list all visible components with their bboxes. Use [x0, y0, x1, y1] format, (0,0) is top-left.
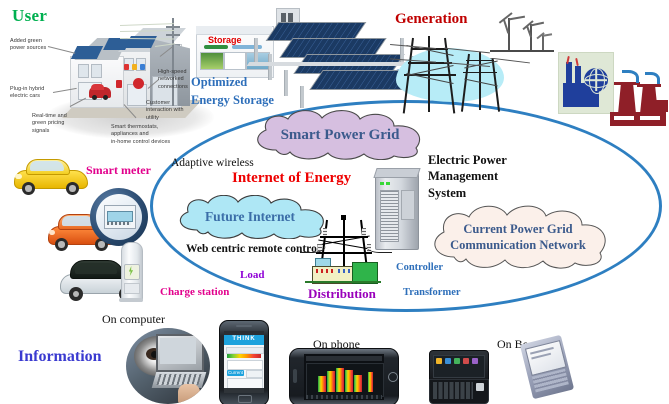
- callout-high-speed-networked-connections: High-speed networked connections: [158, 69, 188, 91]
- device-label-on-computer: On computer: [102, 312, 165, 327]
- device-slider-keyboard: [429, 350, 487, 402]
- label-load: Load: [240, 269, 264, 281]
- label-internet-of-energy: Internet of Energy: [232, 170, 351, 187]
- callout-customer-interaction-with-utility: Customer interaction with utility: [146, 100, 184, 122]
- section-heading-generation: Generation: [395, 11, 468, 28]
- label-controller: Controller: [396, 262, 443, 273]
- epms-line1: Electric Power: [428, 152, 507, 168]
- diagram-canvas: User Generation Transmission Information: [0, 0, 669, 404]
- cloud-smart-power-grid: Smart Power Grid: [246, 110, 434, 160]
- cloud-future-internet: Future Internet: [171, 195, 329, 239]
- wind-turbine-illustration: [490, 8, 554, 58]
- label-adaptive-wireless: Adaptive wireless: [171, 157, 254, 169]
- cloud-label-current-power-grid: Current Power Grid Communication Network: [424, 205, 612, 285]
- callout-smart-thermostats: Smart thermostats, appliances and in-hom…: [111, 124, 170, 146]
- cloud-label-line1: Current Power Grid: [424, 221, 612, 237]
- callout-added-green-power-sources: Added green power sources: [10, 38, 46, 53]
- epms-line2: Management: [428, 168, 507, 184]
- phone-button-current-rate[interactable]: Current Rate: [227, 370, 244, 376]
- storage-caption-line1: Optimized: [191, 73, 274, 91]
- section-heading-information: Information: [18, 348, 102, 366]
- device-on-board-pda: [520, 335, 574, 399]
- label-distribution: Distribution: [308, 286, 376, 302]
- phone-think-app: THINK Current Rate: [219, 320, 269, 404]
- phone-landscape-chart: [289, 348, 399, 404]
- section-heading-user: User: [12, 6, 47, 26]
- callout-realtime-green-pricing-signals: Real-time and green pricing signals: [32, 113, 67, 135]
- callout-plugin-hybrid-electric-cars: Plug-in hybrid electric cars: [10, 86, 44, 101]
- storage-badge-label: Storage: [208, 35, 242, 45]
- cloud-label-smart-power-grid: Smart Power Grid: [246, 110, 434, 160]
- cloud-label-line2: Communication Network: [424, 237, 612, 253]
- photo-on-computer: [126, 328, 210, 404]
- storage-caption: Optimized Energy Storage: [191, 73, 274, 109]
- cloud-current-power-grid-communication-network: Current Power Grid Communication Network: [424, 205, 612, 269]
- cloud-label-future-internet: Future Internet: [171, 195, 329, 239]
- label-transformer: Transformer: [403, 287, 461, 298]
- label-electric-power-management-system: Electric Power Management System: [428, 152, 507, 201]
- phone-brand-label: THINK: [224, 336, 264, 342]
- car-yellow: [12, 156, 88, 196]
- callout-line-added-green: [48, 46, 75, 54]
- storage-caption-line2: Energy Storage: [191, 91, 274, 109]
- label-charge-station: Charge station: [160, 286, 229, 298]
- epms-line3: System: [428, 185, 507, 201]
- label-smart-meter: Smart meter: [86, 163, 151, 178]
